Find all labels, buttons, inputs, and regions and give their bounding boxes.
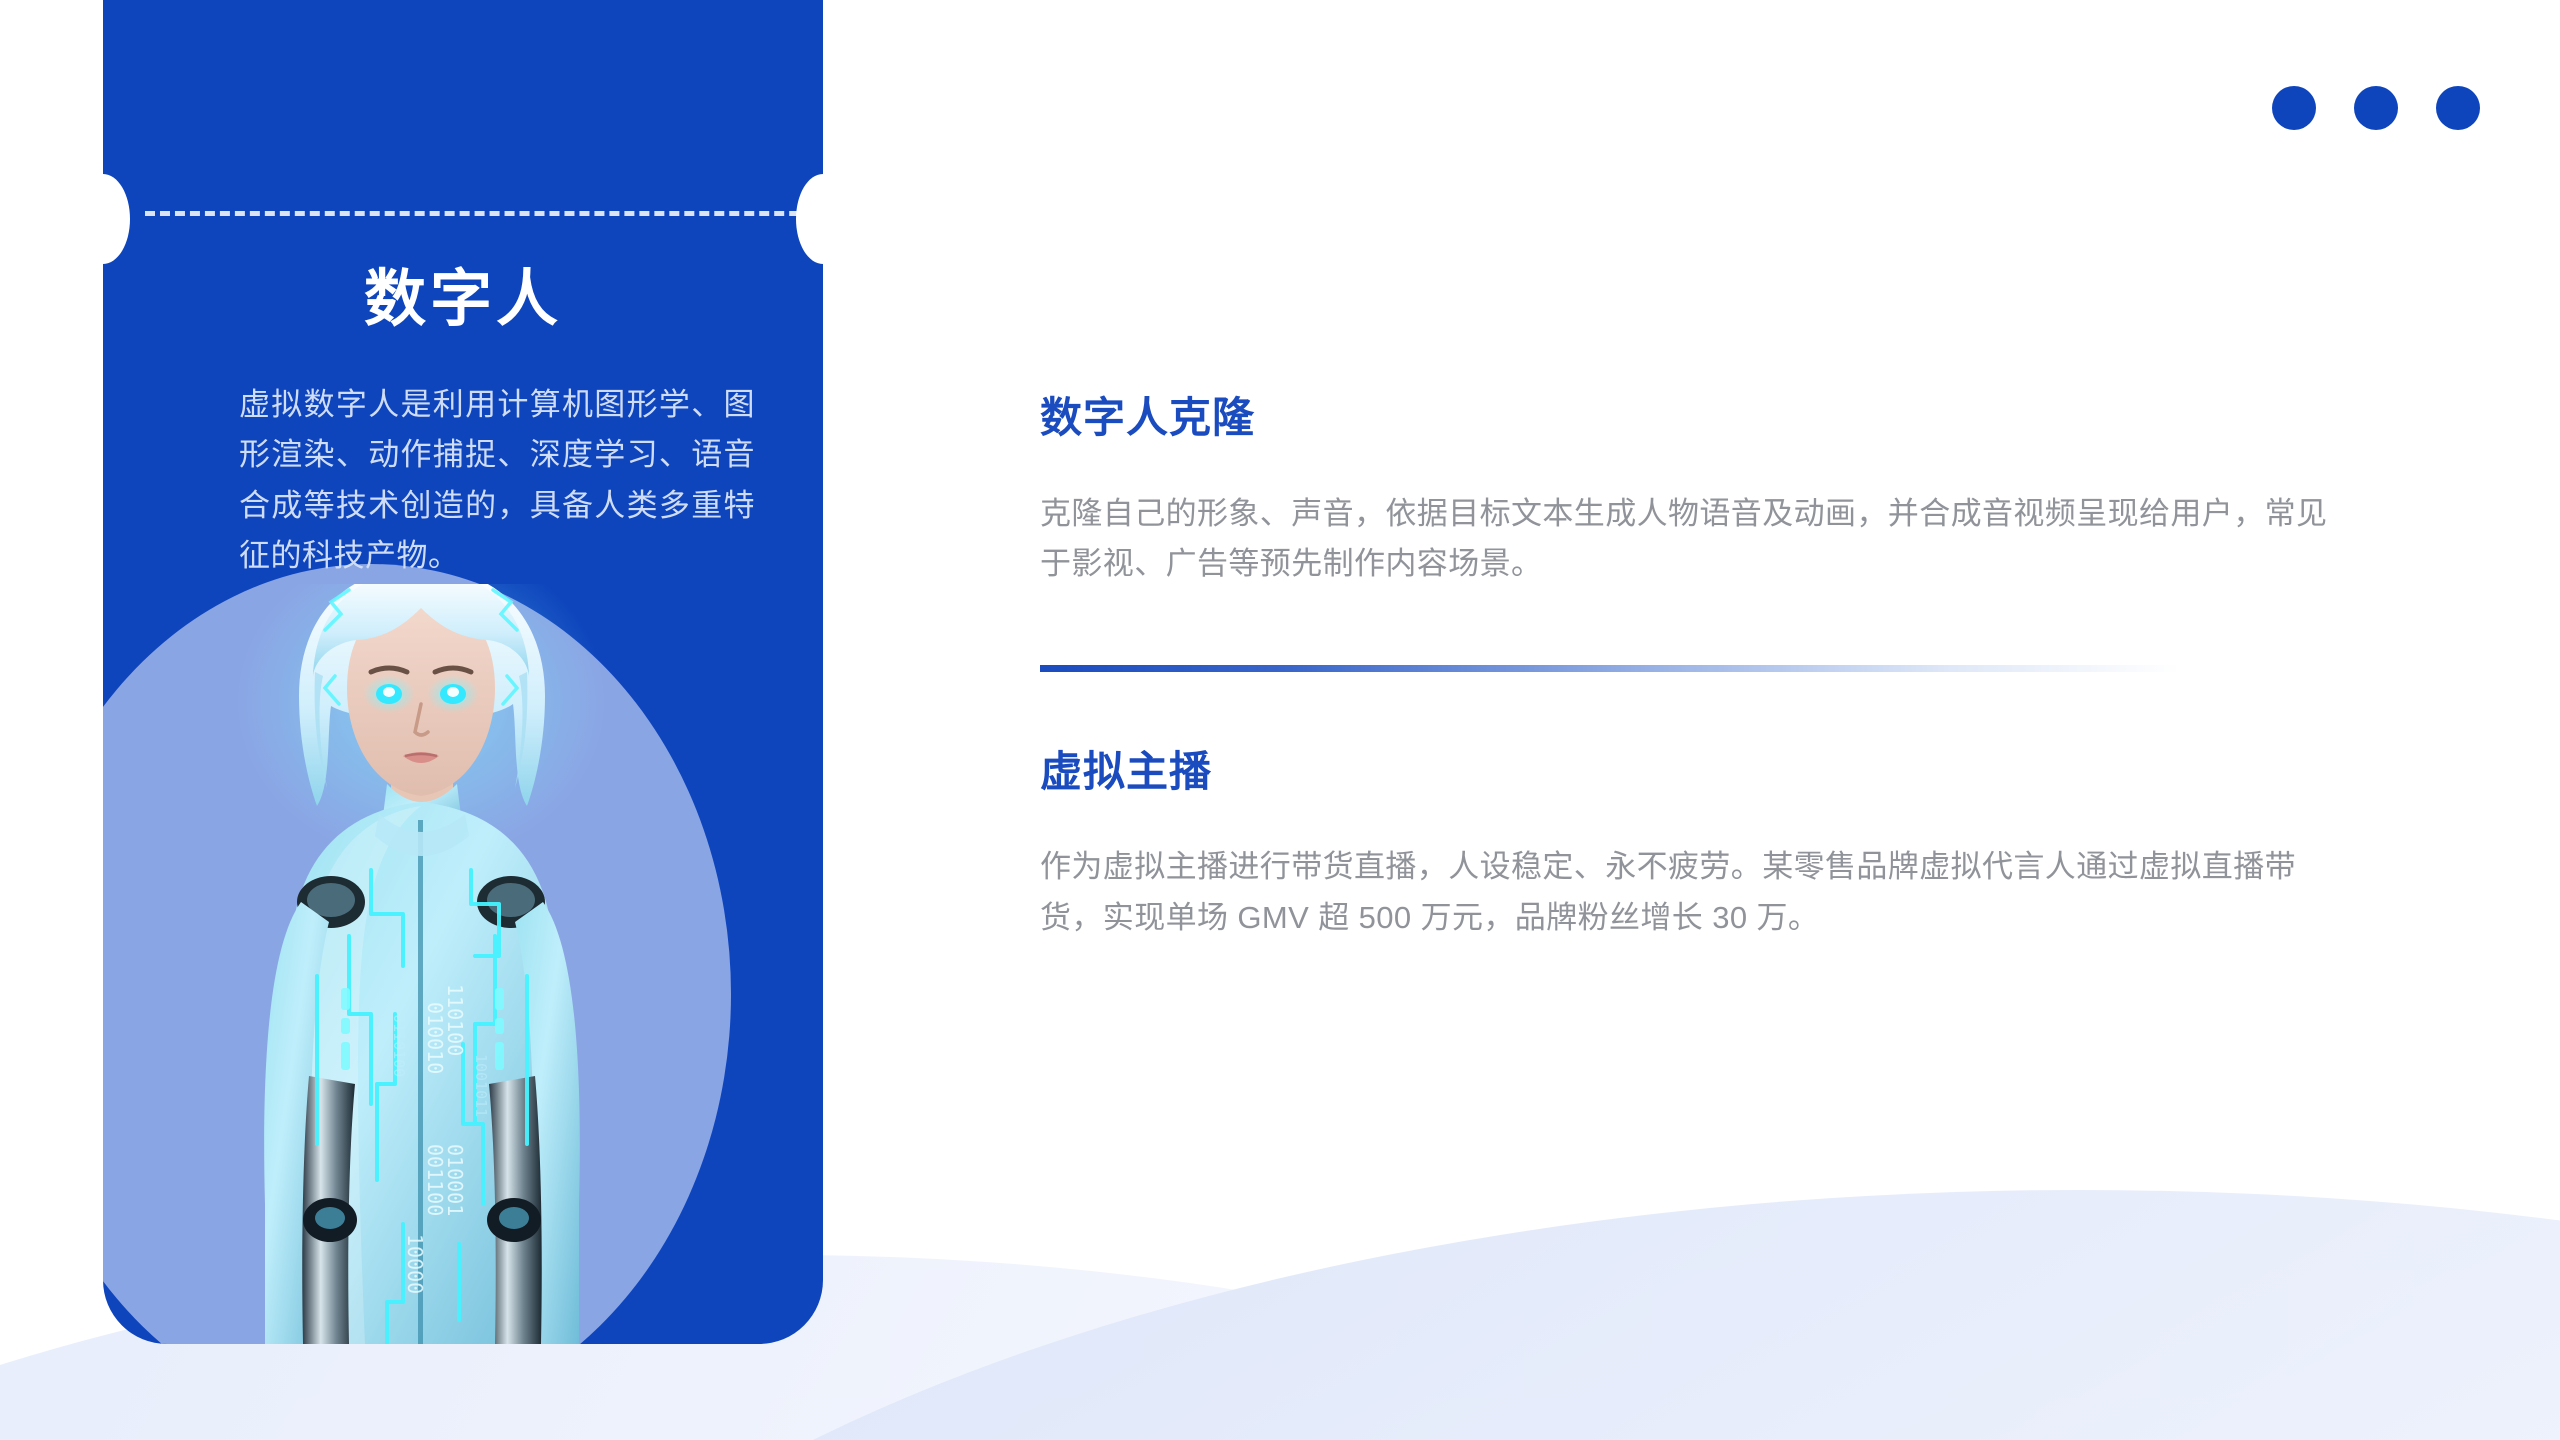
section-heading: 数字人克隆 <box>1040 392 2340 445</box>
card-description: 虚拟数字人是利用计算机图形学、图形渲染、动作捕捉、深度学习、语音合成等技术创造的… <box>239 380 755 581</box>
dot-3-icon <box>2436 86 2480 130</box>
section-divider <box>1040 665 2180 672</box>
section-body: 作为虚拟主播进行带货直播，人设稳定、永不疲劳。某零售品牌虚拟代言人通过虚拟直播带… <box>1040 842 2340 942</box>
dot-2-icon <box>2354 86 2398 130</box>
decorative-dots-group <box>2272 86 2480 130</box>
svg-text:110100: 110100 <box>443 984 467 1056</box>
section-body: 克隆自己的形象、声音，依据目标文本生成人物语音及动画，并合成音视频呈现给用户，常… <box>1040 489 2340 589</box>
card-notch-right <box>796 174 850 264</box>
section-heading: 虚拟主播 <box>1040 746 2340 799</box>
content-panel: 数字人克隆 克隆自己的形象、声音，依据目标文本生成人物语音及动画，并合成音视频呈… <box>1040 392 2340 943</box>
slide-root: 数字人 虚拟数字人是利用计算机图形学、图形渲染、动作捕捉、深度学习、语音合成等技… <box>0 0 2560 1440</box>
dot-1-icon <box>2272 86 2316 130</box>
svg-text:10000: 10000 <box>403 1234 427 1294</box>
svg-text:0110100: 0110100 <box>390 1014 408 1077</box>
svg-text:1001011: 1001011 <box>472 1054 490 1117</box>
card-dashed-divider <box>145 211 2522 216</box>
digital-human-card: 数字人 虚拟数字人是利用计算机图形学、图形渲染、动作捕捉、深度学习、语音合成等技… <box>103 0 823 1344</box>
section-digital-human-clone: 数字人克隆 克隆自己的形象、声音，依据目标文本生成人物语音及动画，并合成音视频呈… <box>1040 392 2340 589</box>
svg-text:010001: 010001 <box>443 1144 467 1216</box>
android-illustration: 010010 110100 001100 010001 10000 011010… <box>103 584 823 1344</box>
card-notch-left <box>76 174 130 264</box>
card-title: 数字人 <box>103 266 823 334</box>
section-virtual-anchor: 虚拟主播 作为虚拟主播进行带货直播，人设稳定、永不疲劳。某零售品牌虚拟代言人通过… <box>1040 746 2340 943</box>
card-content: 数字人 虚拟数字人是利用计算机图形学、图形渲染、动作捕捉、深度学习、语音合成等技… <box>103 0 823 581</box>
section-spacer <box>1040 672 2340 746</box>
